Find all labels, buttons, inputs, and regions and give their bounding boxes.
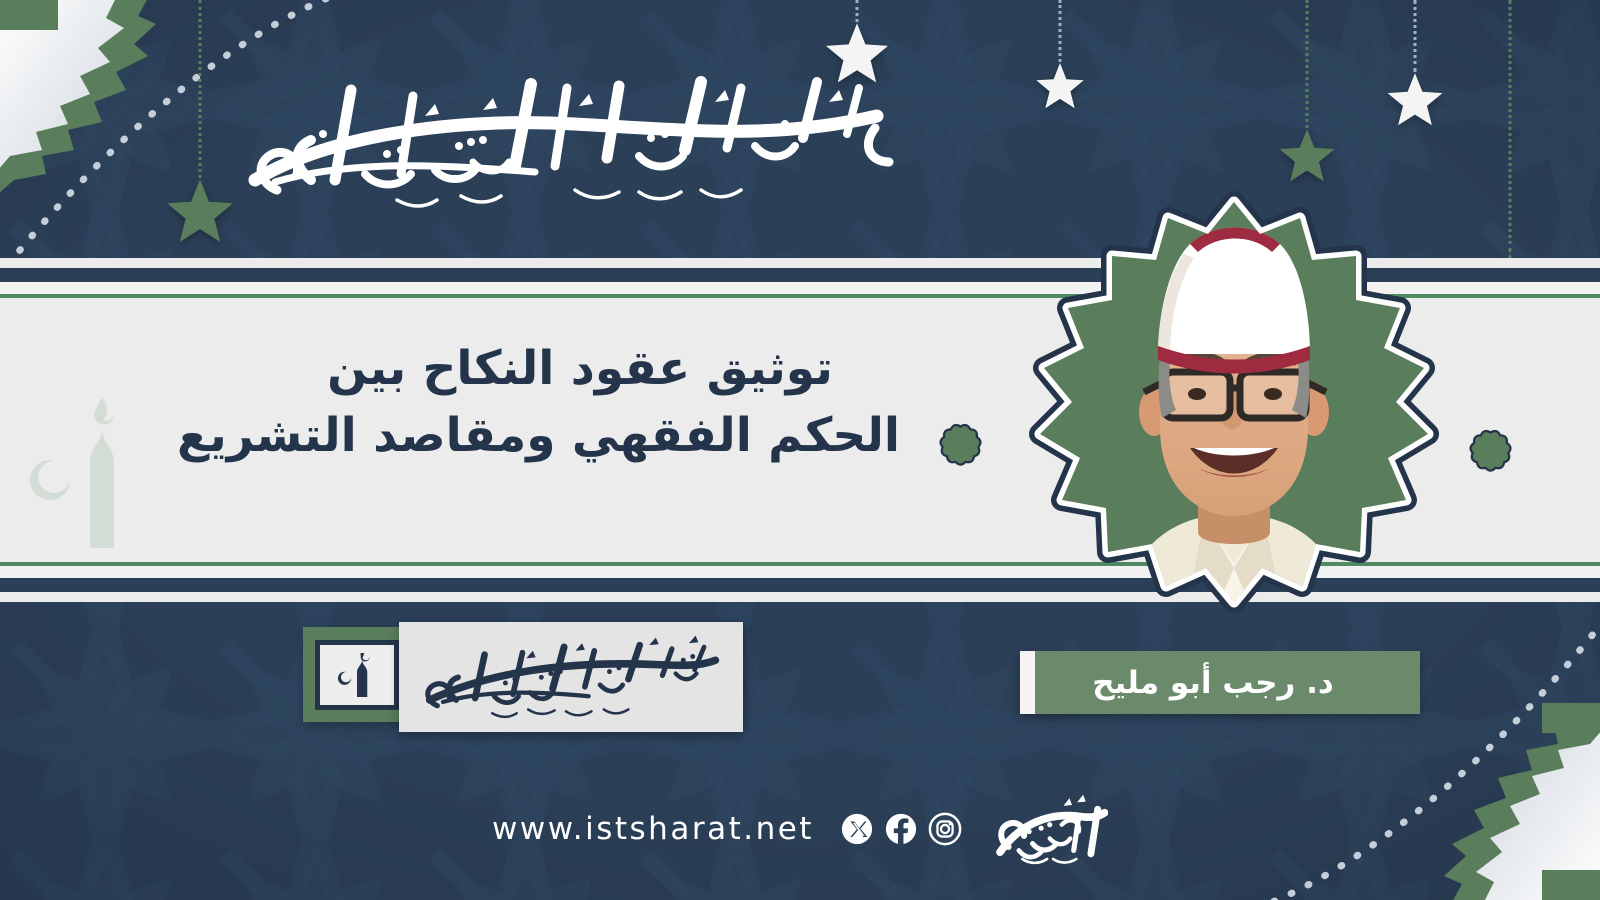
x-icon[interactable] bbox=[840, 812, 874, 846]
badge-label-panel bbox=[399, 622, 743, 732]
al-mujtama-logo bbox=[988, 790, 1108, 868]
website-url[interactable]: www.istsharat.net bbox=[492, 811, 814, 847]
speaker-portrait bbox=[1008, 196, 1460, 626]
hanging-cord bbox=[1509, 0, 1512, 252]
star-shape bbox=[1385, 72, 1445, 132]
page-title: توثيق عقود النكاح بين الحكم الفقهي ومقاص… bbox=[260, 336, 900, 469]
social-links bbox=[840, 812, 962, 846]
footer-bar: www.istsharat.net bbox=[0, 786, 1600, 872]
accent-block-top-left bbox=[0, 0, 58, 30]
crescent-minaret-watermark bbox=[18, 398, 148, 548]
hanging-cord bbox=[1414, 0, 1417, 72]
hanging-cord bbox=[199, 0, 202, 178]
crescent-minaret-icon bbox=[335, 653, 379, 697]
title-line-2: الحكم الفقهي ومقاصد التشريع bbox=[260, 403, 900, 470]
hanging-cord bbox=[1306, 0, 1309, 128]
rosette-left bbox=[938, 422, 983, 467]
facebook-icon[interactable] bbox=[884, 812, 918, 846]
badge-emblem-frame bbox=[315, 640, 399, 710]
nameplate-accent-bar bbox=[1020, 651, 1035, 714]
header-calligraphy bbox=[215, 62, 915, 217]
accent-block-right-upper bbox=[1542, 703, 1600, 733]
banner-root: توثيق عقود النكاح بين الحكم الفقهي ومقاص… bbox=[0, 0, 1600, 900]
speaker-name: د. رجب أبو مليح bbox=[1092, 665, 1348, 701]
star-shape bbox=[1034, 62, 1086, 114]
star-shape bbox=[1277, 128, 1337, 188]
accent-block-bottom-right bbox=[1542, 870, 1600, 900]
rosette-right bbox=[1468, 428, 1513, 473]
instagram-icon[interactable] bbox=[928, 812, 962, 846]
speaker-nameplate: د. رجب أبو مليح bbox=[1020, 651, 1420, 714]
title-line-1: توثيق عقود النكاح بين bbox=[260, 336, 900, 403]
hanging-cord bbox=[856, 0, 859, 22]
program-badge bbox=[303, 622, 743, 732]
hanging-cord bbox=[1059, 0, 1062, 62]
